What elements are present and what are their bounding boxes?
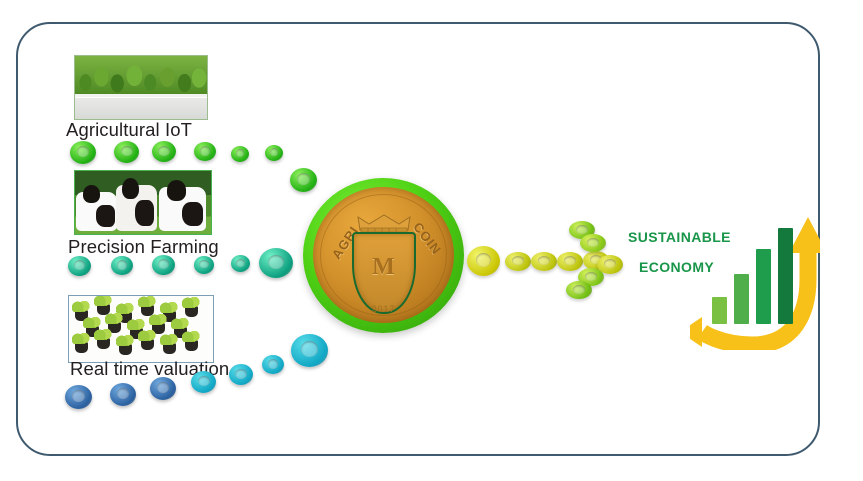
crown-icon [356,213,412,233]
label-precision-farming: Precision Farming [68,236,219,258]
label-agricultural-iot: Agricultural IoT [66,119,192,141]
output-bead [531,252,557,271]
output-bead-branch [566,281,592,299]
seedling-pot [97,338,110,349]
bar-3 [756,249,771,324]
bead-real-time-valuation [110,383,136,406]
seedling-pot [119,344,132,355]
bead-precision-farming [231,255,250,272]
image-real-time-valuation [68,295,214,363]
bar-4 [778,228,793,324]
image-precision-farming [74,170,212,235]
bead-agricultural-iot [265,145,283,161]
image-agricultural-iot [74,55,208,120]
bead-agricultural-iot [114,141,139,163]
bar-2 [734,274,749,324]
bead-real-time-valuation [291,334,328,367]
coin-monogram: M [372,254,395,281]
bead-precision-farming [259,248,293,278]
bar-1 [712,297,727,324]
seedling-pot [185,306,198,317]
bead-real-time-valuation [150,377,176,400]
bead-real-time-valuation [191,371,216,393]
output-bead [505,252,531,271]
seedling-pot [185,340,198,351]
seedling-pot [163,343,176,354]
bead-real-time-valuation [229,364,253,385]
bead-agricultural-iot [70,141,96,164]
coin-year: 2017 [371,304,395,314]
bead-real-time-valuation [65,385,92,409]
output-bead-large [467,246,500,276]
agri-coin: AGRI COIN M 2017 [303,178,464,333]
output-bead-branch [580,234,606,252]
output-bead [557,252,583,271]
bead-precision-farming [194,256,214,274]
bead-agricultural-iot [231,146,249,162]
seedling-pot [75,342,88,353]
growth-graphic [690,205,820,350]
bead-agricultural-iot [152,141,176,162]
curved-up-arrow-icon [690,205,820,350]
seedling-pot [141,339,154,350]
coin-face: AGRI COIN M 2017 [313,187,454,323]
